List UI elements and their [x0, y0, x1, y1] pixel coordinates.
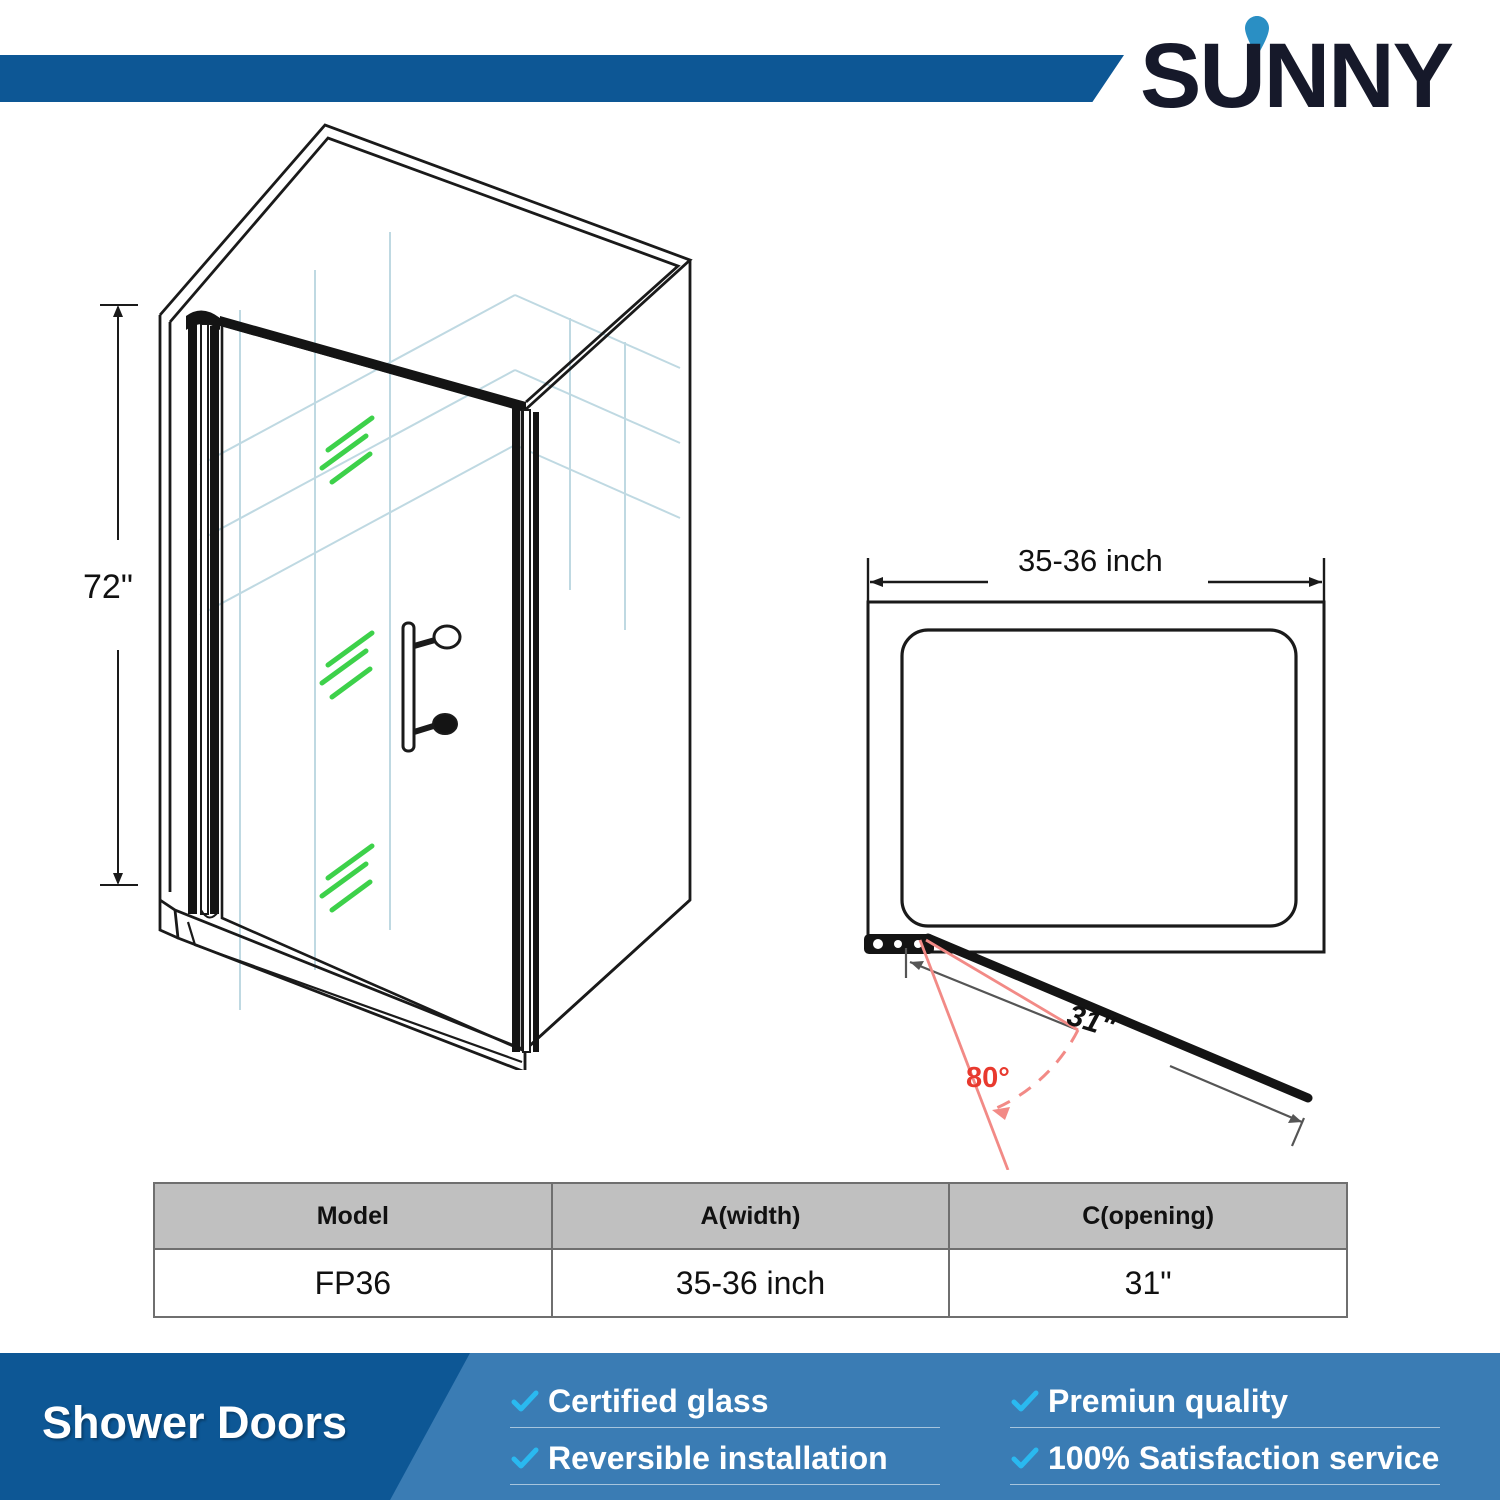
- table-header-width: A(width): [552, 1183, 950, 1249]
- feature-column-left: Certified glass Reversible installation: [510, 1375, 940, 1489]
- specification-table: Model A(width) C(opening) FP36 35-36 inc…: [153, 1182, 1348, 1318]
- check-icon: [510, 1443, 540, 1473]
- brand-wordmark: SUNNY: [1140, 30, 1480, 122]
- hinge-post-assembly: [186, 310, 220, 917]
- feature-label: Certified glass: [548, 1385, 769, 1417]
- feature-item: Reversible installation: [510, 1432, 940, 1485]
- feature-label: Premiun quality: [1048, 1385, 1288, 1417]
- header-accent-bar: [0, 55, 1124, 102]
- cell-model: FP36: [154, 1249, 552, 1317]
- door-glass-panel: [220, 316, 539, 1052]
- feature-label: 100% Satisfaction service: [1048, 1442, 1439, 1474]
- feature-item: Premiun quality: [1010, 1375, 1440, 1428]
- base-pan-outline: [902, 630, 1296, 926]
- isometric-shower-enclosure-drawing: [60, 110, 800, 1070]
- feature-column-right: Premiun quality 100% Satisfaction servic…: [1010, 1375, 1440, 1489]
- check-icon: [1010, 1386, 1040, 1416]
- opening-dimension-line: [906, 948, 1304, 1146]
- width-dimension-label: 35-36 inch: [1018, 543, 1163, 579]
- check-icon: [1010, 1443, 1040, 1473]
- cell-width: 35-36 inch: [552, 1249, 950, 1317]
- cell-opening: 31": [949, 1249, 1347, 1317]
- brand-logo: SUNNY: [1140, 12, 1480, 122]
- table-header-model: Model: [154, 1183, 552, 1249]
- height-dimension-label: 72": [83, 568, 133, 607]
- footer-title: Shower Doors: [42, 1397, 347, 1449]
- page-footer: Shower Doors Certified glass Reversible …: [0, 1353, 1500, 1500]
- feature-item: 100% Satisfaction service: [1010, 1432, 1440, 1485]
- table-header-opening: C(opening): [949, 1183, 1347, 1249]
- table-header-row: Model A(width) C(opening): [154, 1183, 1347, 1249]
- feature-item: Certified glass: [510, 1375, 940, 1428]
- plan-view-drawing: [840, 530, 1380, 1170]
- swing-angle-label: 80°: [966, 1062, 1010, 1095]
- check-icon: [510, 1386, 540, 1416]
- table-row: FP36 35-36 inch 31": [154, 1249, 1347, 1317]
- feature-label: Reversible installation: [548, 1442, 888, 1474]
